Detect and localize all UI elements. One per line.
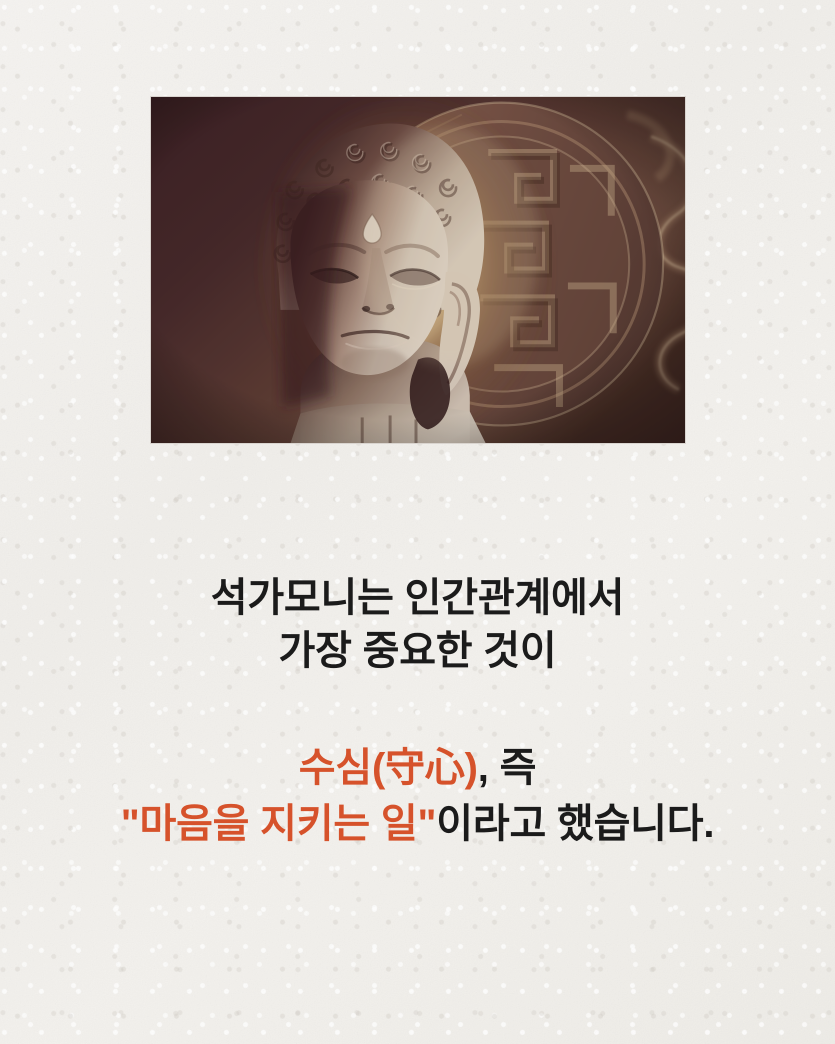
buddha-photo	[150, 96, 686, 444]
emphasis-term-susim: 수심(守心)	[299, 746, 478, 790]
emphasis-quoted-phrase: "마음을 지키는 일"	[121, 802, 437, 846]
quote-line-2: 가장 중요한 것이	[0, 625, 835, 678]
emphasis-line-1-tail: , 즉	[478, 746, 536, 790]
emphasis-line-2: "마음을 지키는 일"이라고 했습니다.	[0, 796, 835, 852]
quote-line-1: 석가모니는 인간관계에서	[0, 572, 835, 625]
paragraph-spacer	[0, 678, 835, 740]
emphasis-line-2-tail: 이라고 했습니다.	[436, 802, 714, 846]
quote-text-block: 석가모니는 인간관계에서 가장 중요한 것이 수심(守心), 즉 "마음을 지키…	[0, 572, 835, 852]
buddha-photo-illustration	[151, 97, 685, 443]
emphasis-line-1: 수심(守心), 즉	[0, 740, 835, 796]
